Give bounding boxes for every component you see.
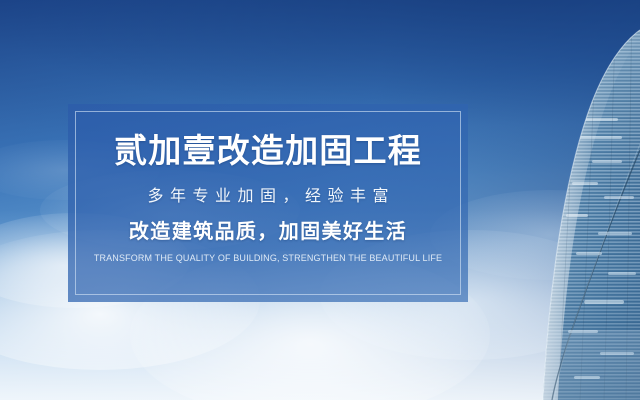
promo-banner: 贰加壹改造加固工程 多年专业加固，经验丰富 改造建筑品质，加固美好生活 TRAN…	[0, 0, 640, 400]
skyscraper-illustration	[480, 0, 640, 400]
skyscraper-svg	[480, 0, 640, 400]
page-title: 贰加壹改造加固工程	[68, 104, 468, 170]
subtitle-text: 多年专业加固，经验丰富	[68, 170, 468, 206]
headline-panel: 贰加壹改造加固工程 多年专业加固，经验丰富 改造建筑品质，加固美好生活 TRAN…	[68, 104, 468, 302]
tower-body	[480, 0, 640, 400]
slogan-text: 改造建筑品质，加固美好生活	[68, 206, 468, 244]
panel-content: 贰加壹改造加固工程 多年专业加固，经验丰富 改造建筑品质，加固美好生活 TRAN…	[68, 104, 468, 264]
english-tagline: TRANSFORM THE QUALITY OF BUILDING, STREN…	[68, 244, 468, 264]
